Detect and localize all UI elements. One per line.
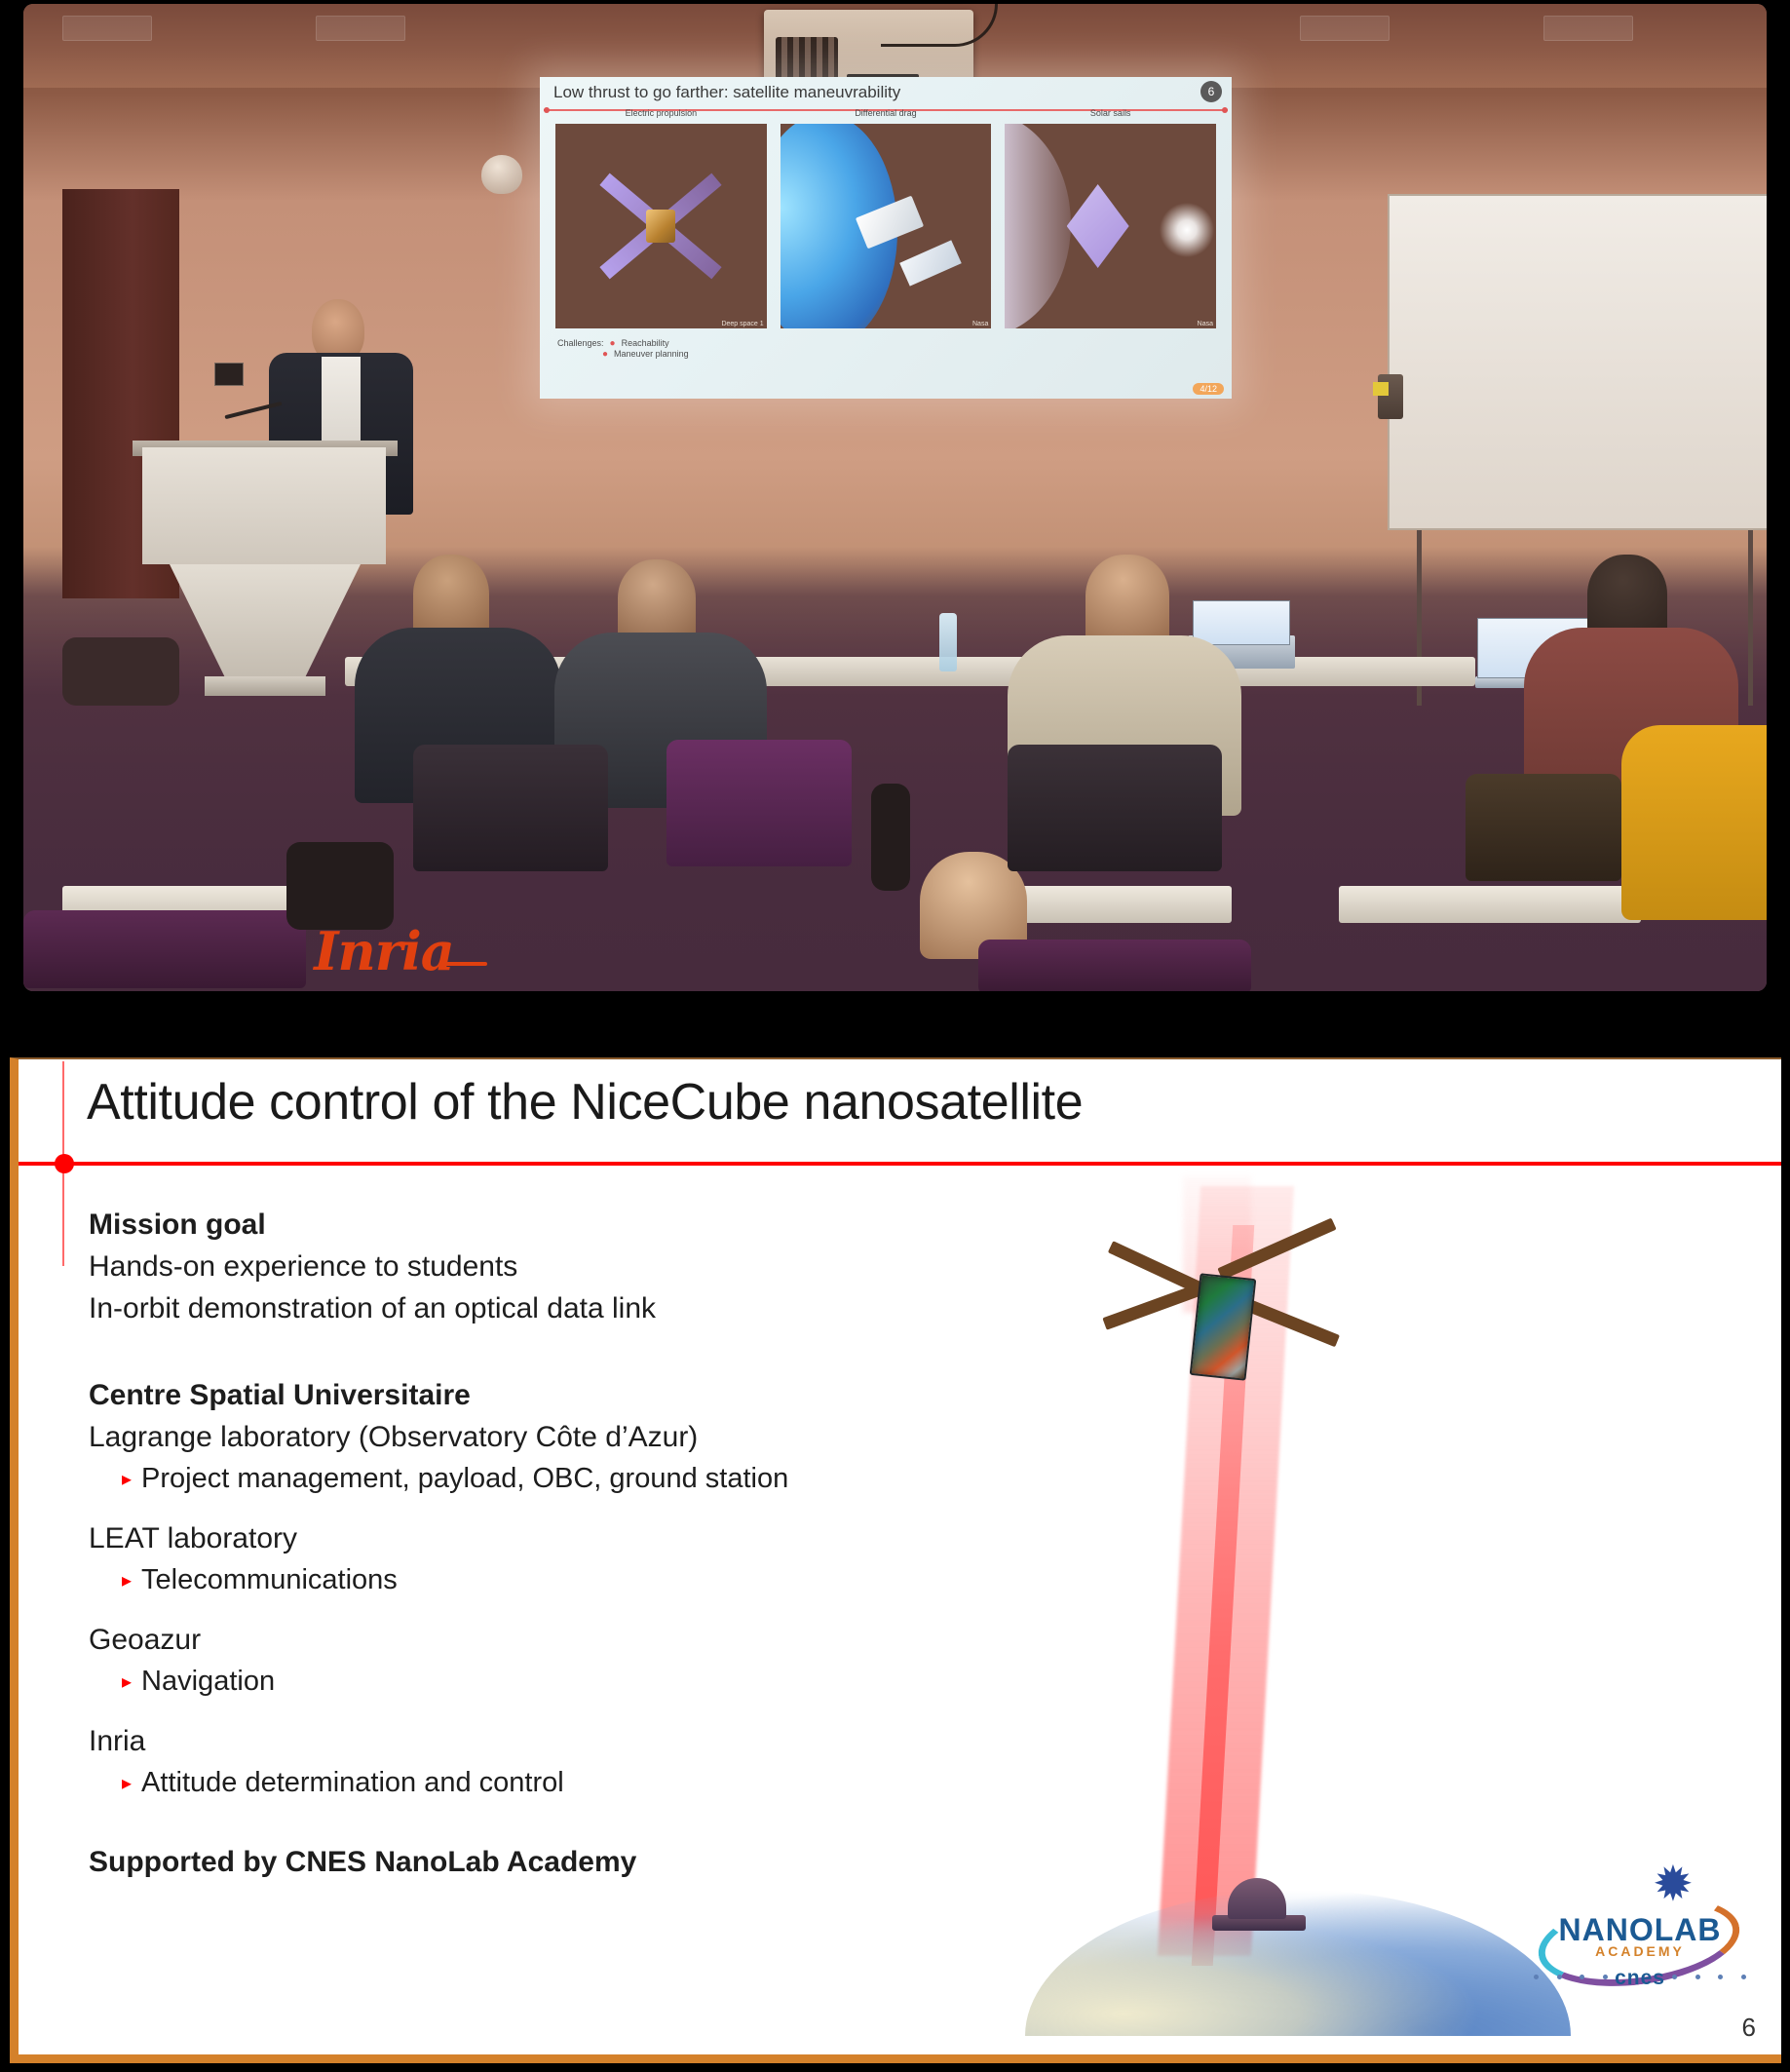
bullet-dot-icon: ● xyxy=(602,349,608,360)
projected-slide-title: Low thrust to go farther: satellite mane… xyxy=(553,83,1222,102)
ceiling-vent xyxy=(1300,16,1390,41)
chair xyxy=(413,745,608,871)
audience-head xyxy=(1085,555,1169,644)
star-icon: ✹ xyxy=(1647,1860,1699,1912)
section-heading-mission-goal: Mission goal xyxy=(89,1210,966,1240)
bag xyxy=(62,637,179,706)
title-horizontal-rule xyxy=(19,1162,1781,1166)
challenges-label: Challenges: xyxy=(557,338,604,348)
ceiling-vent xyxy=(316,16,405,41)
panel-caption: Electric propulsion xyxy=(555,108,767,118)
spacer xyxy=(89,1702,966,1727)
whiteboard xyxy=(1388,194,1767,530)
bullet-text: Attitude determination and control xyxy=(141,1769,564,1797)
title-anchor-dot-icon xyxy=(55,1154,74,1173)
group-label-inria: Inria xyxy=(89,1727,966,1756)
wall-sign xyxy=(214,363,244,386)
slide-page-number: 6 xyxy=(1742,2013,1756,2043)
panel-credit: Deep space 1 xyxy=(721,321,763,327)
triangle-right-icon: ▸ xyxy=(122,1774,132,1793)
electric-propulsion-image: Deep space 1 xyxy=(555,124,767,328)
solar-panel xyxy=(900,241,963,287)
slide-body: Mission goal Hands-on experience to stud… xyxy=(89,1210,966,1877)
panel-caption: Solar sails xyxy=(1005,108,1216,118)
panel-caption: Differential drag xyxy=(781,108,992,118)
group-label-geoazur: Geoazur xyxy=(89,1626,966,1655)
triangle-right-icon: ▸ xyxy=(122,1571,132,1591)
chair xyxy=(1466,774,1621,881)
mission-goal-line: Hands-on experience to students xyxy=(89,1252,966,1282)
projected-panels: Electric propulsion Deep space 1 Differe… xyxy=(555,124,1216,328)
dot-icon xyxy=(1741,1975,1746,1979)
warning-label xyxy=(1373,382,1389,396)
bullet-text: Telecommunications xyxy=(141,1566,398,1594)
projected-panel: Solar sails Nasa xyxy=(1005,124,1216,328)
bullet-item-lagrange: ▸ Project management, payload, OBC, grou… xyxy=(122,1465,966,1493)
presentation-slide: Attitude control of the NiceCube nanosat… xyxy=(10,1057,1781,2063)
audience-table xyxy=(1339,886,1641,923)
dot-icon xyxy=(1603,1975,1608,1979)
dot-icon xyxy=(1580,1975,1584,1979)
whiteboard-leg xyxy=(1748,530,1753,706)
projected-panel: Differential drag Nasa xyxy=(781,124,992,328)
spacer xyxy=(89,1499,966,1524)
challenge-item: Maneuver planning xyxy=(614,349,689,359)
bullet-text: Navigation xyxy=(141,1668,275,1696)
coat-on-chair xyxy=(1621,725,1767,920)
ceiling-speaker-icon xyxy=(481,155,522,194)
spacer xyxy=(89,1600,966,1626)
spacer xyxy=(89,1803,966,1848)
satellite-body xyxy=(646,210,675,243)
triangle-right-icon: ▸ xyxy=(122,1470,132,1489)
solar-sails-image: Nasa xyxy=(1005,124,1216,328)
presenter-shirt xyxy=(322,357,361,454)
earth-horizon xyxy=(1025,1890,1571,2036)
cubesat-icon xyxy=(1190,1273,1257,1380)
chair xyxy=(1008,745,1222,871)
bullet-dot-icon: ● xyxy=(610,338,616,349)
projected-page-badge: 4/12 xyxy=(1193,383,1224,395)
support-line: Supported by CNES NanoLab Academy xyxy=(89,1848,966,1877)
ceiling-vent xyxy=(1543,16,1633,41)
challenges-block: Challenges: ● Reachability ● Maneuver pl… xyxy=(557,338,689,360)
chair xyxy=(23,910,306,988)
chair xyxy=(666,740,852,866)
mission-goal-line: In-orbit demonstration of an optical dat… xyxy=(89,1294,966,1324)
solar-sail xyxy=(1067,184,1129,268)
projection-screen: Low thrust to go farther: satellite mane… xyxy=(540,77,1232,399)
bullet-item-geoazur: ▸ Navigation xyxy=(122,1668,966,1696)
audience-head xyxy=(618,559,696,643)
panel-credit: Nasa xyxy=(972,321,988,327)
wall-switch-panel xyxy=(1378,374,1403,419)
slide-title: Attitude control of the NiceCube nanosat… xyxy=(87,1073,1083,1132)
triangle-right-icon: ▸ xyxy=(122,1672,132,1692)
logo-subtitle: ACADEMY xyxy=(1540,1943,1740,1959)
challenges-row: ● Maneuver planning xyxy=(602,349,689,360)
bullet-text: Project management, payload, OBC, ground… xyxy=(141,1465,788,1493)
sun-glare xyxy=(1156,199,1216,261)
screenshot-root: Low thrust to go farther: satellite mane… xyxy=(0,0,1790,2072)
bullet-item-inria: ▸ Attitude determination and control xyxy=(122,1769,966,1797)
ceiling-vent xyxy=(62,16,152,41)
projected-panel: Electric propulsion Deep space 1 xyxy=(555,124,767,328)
backpack xyxy=(871,784,910,891)
nanolab-academy-logo: ✹ NANOLAB ACADEMY cnes xyxy=(1534,1865,1746,1994)
laptop-screen xyxy=(1193,600,1290,645)
projected-slide-badge: 6 xyxy=(1200,81,1222,102)
sail-arc xyxy=(1005,124,1071,328)
backpack xyxy=(286,842,394,930)
dot-icon xyxy=(1718,1975,1723,1979)
projector-lens xyxy=(776,37,838,82)
group-label-lagrange: Lagrange laboratory (Observatory Côte d’… xyxy=(89,1423,966,1452)
dot-icon xyxy=(1557,1975,1562,1979)
challenge-item: Reachability xyxy=(622,338,669,348)
podium-foot xyxy=(205,676,325,696)
dot-icon xyxy=(1672,1975,1677,1979)
spacer xyxy=(89,1336,966,1381)
podium: Inria xyxy=(142,447,386,564)
dot-icon xyxy=(1534,1975,1539,1979)
chair xyxy=(978,940,1251,991)
section-heading-centre-spatial: Centre Spatial Universitaire xyxy=(89,1381,966,1410)
lecture-hall-photo: Low thrust to go farther: satellite mane… xyxy=(23,4,1767,991)
group-label-leat: LEAT laboratory xyxy=(89,1524,966,1554)
logo-dot-row xyxy=(1534,1975,1746,1979)
differential-drag-image: Nasa xyxy=(781,124,992,328)
water-bottle xyxy=(939,613,957,671)
challenges-label-row: Challenges: ● Reachability xyxy=(557,338,689,349)
dot-icon xyxy=(1695,1975,1700,1979)
panel-credit: Nasa xyxy=(1198,321,1213,327)
bullet-item-leat: ▸ Telecommunications xyxy=(122,1566,966,1594)
